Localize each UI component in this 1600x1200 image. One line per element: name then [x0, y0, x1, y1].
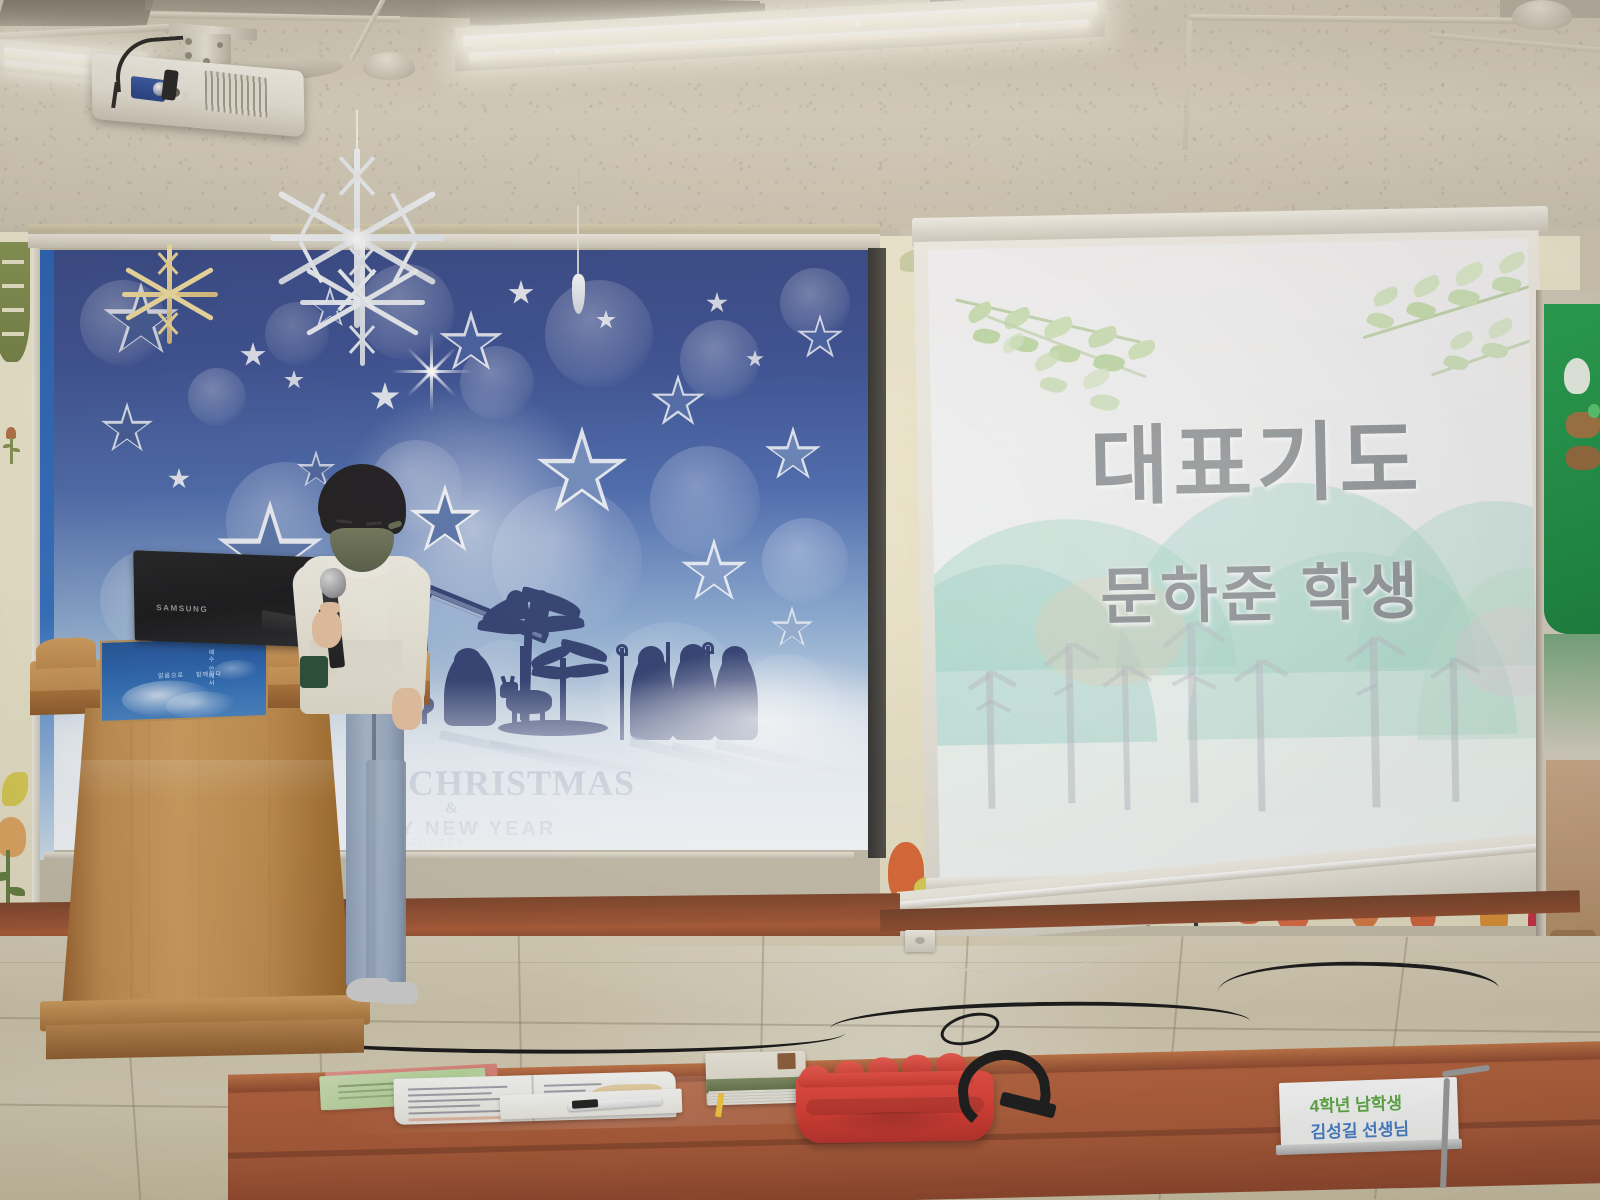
smoke-detector-icon: [363, 52, 415, 80]
photo-scene: CHRISTMAS & PY NEW YEAR 천안교회 | 초등부: [0, 0, 1600, 1200]
name-card-line2: 김성길 선생님: [1310, 1115, 1409, 1143]
undershirt: [300, 656, 328, 688]
ceiling-projector: [95, 18, 325, 130]
hand: [392, 688, 422, 730]
hymnal-book[interactable]: [705, 1051, 806, 1106]
thumb: [320, 602, 340, 614]
power-cable: [935, 935, 1095, 975]
projector-cable: [113, 36, 186, 93]
gold-snowflake-ornament: [122, 244, 218, 344]
shoe: [372, 982, 418, 1004]
projection-screen: 대표기도 문하준 학생: [914, 230, 1552, 912]
wall-outlet[interactable]: [905, 930, 935, 952]
banner-rail-top: [28, 224, 880, 234]
student-speaker: [280, 460, 460, 1020]
podium-sign-text-2: 믿음으로: [158, 670, 184, 680]
ornament-string: [578, 166, 580, 206]
laptop-brand-label: SAMSUNG: [156, 603, 208, 614]
icicle-ornament: [570, 206, 588, 316]
name-card-line1: 4학년 남학생: [1309, 1089, 1402, 1117]
hand: [312, 610, 342, 648]
smoke-detector-icon: [1512, 0, 1572, 30]
name-card-holder: 4학년 남학생 김성길 선생님: [1272, 1076, 1472, 1200]
wall-gap: [868, 248, 886, 858]
arm-right: [384, 563, 431, 705]
small-snowflake-ornament: [300, 238, 425, 366]
pants-leg: [366, 760, 406, 992]
podium-sign-text-1: 예수 안에서: [206, 649, 215, 687]
podium-sign: 예수 안에서 믿음으로 함께하다: [100, 635, 268, 723]
podium-sign-text-3: 함께하다: [196, 669, 222, 679]
